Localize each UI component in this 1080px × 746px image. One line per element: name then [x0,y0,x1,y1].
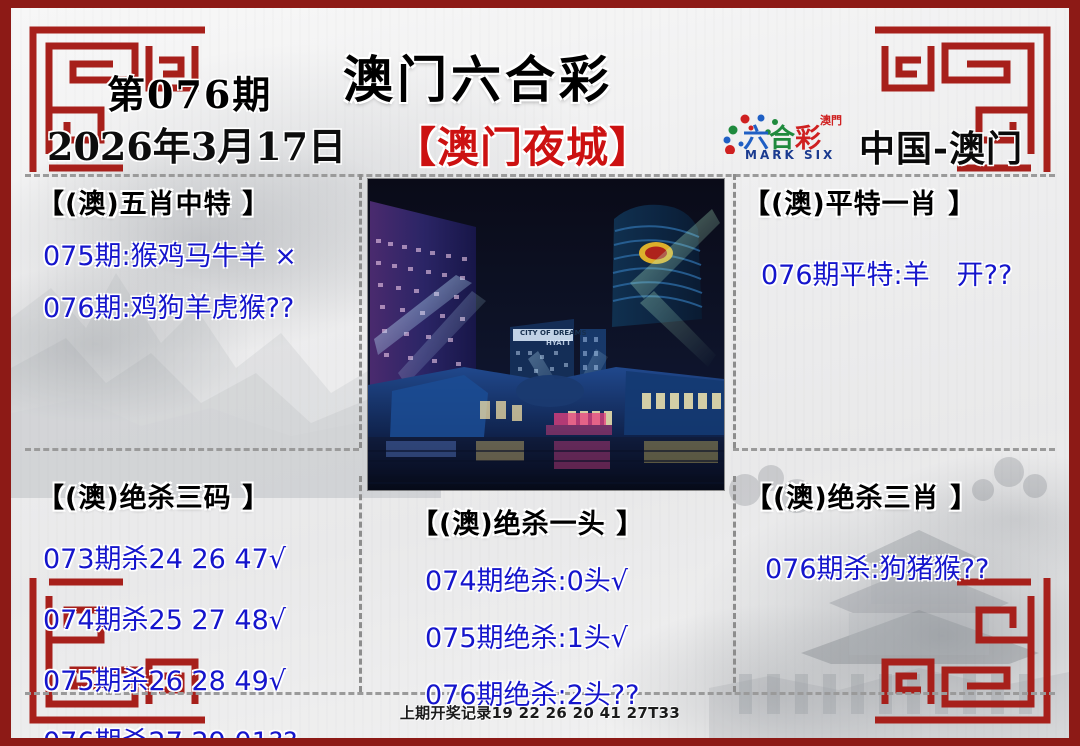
panel-line: 075期绝杀:1头√ [425,616,644,655]
panel-line: 076期杀:狗猪猴?? [765,547,989,586]
panel-line: 075期杀26 28 49√ [43,659,297,698]
poster-header: 第076期 2026年3月17日 澳门六合彩 【澳门夜城】 中国-澳门 六合彩 [11,8,1069,168]
panel-line: 076期平特:羊 开?? [761,253,1012,292]
panel-ping-te-one-zodiac: 【(澳)平特一肖 】 076期平特:羊 开?? [739,182,1012,292]
divider-horizontal-middle-left [25,448,359,451]
page-subtitle: 【澳门夜城】 [394,114,652,175]
panel-line: 073期杀24 26 47√ [43,537,297,576]
panel-title: 【(澳)绝杀三码 】 [37,476,297,515]
panel-title: 【(澳)平特一肖 】 [743,182,1012,221]
divider-vertical-right-upper [733,174,736,448]
region-label: 中国-澳门 [859,120,1023,172]
photo-sign-text: CITY OF DREAMS [520,329,587,337]
divider-horizontal-top [25,174,1055,177]
macau-night-photo: CITY OF DREAMS HYATT [368,179,724,490]
panel-kill-one-head: 【(澳)绝杀一头 】 074期绝杀:0头√ 075期绝杀:1头√ 076期绝杀:… [407,502,644,712]
divider-vertical-left-lower [359,476,362,692]
previous-draw-record: 上期开奖记录19 22 26 20 41 27T33 [11,702,1069,723]
macau-night-photo-graphic: CITY OF DREAMS HYATT [368,179,724,490]
panel-kill-three-codes: 【(澳)绝杀三码 】 073期杀24 26 47√ 074期杀25 27 48√… [31,476,297,738]
mark-six-logo: 六合彩 澳門 MARK SIX [725,112,855,170]
divider-vertical-right-lower [733,476,736,692]
panel-title: 【(澳)五肖中特 】 [37,182,297,221]
divider-vertical-left-upper [359,174,362,448]
panel-five-zodiac-special: 【(澳)五肖中特 】 075期:猴鸡马牛羊 × 076期:鸡狗羊虎猴?? [31,182,297,325]
divider-horizontal-middle-right [733,448,1055,451]
logo-superscript: 澳門 [820,112,842,128]
panel-line: 074期绝杀:0头√ [425,559,644,598]
panel-line: 075期:猴鸡马牛羊 × [43,234,297,273]
panel-kill-three-zodiac: 【(澳)绝杀三肖 】 076期杀:狗猪猴?? [739,476,989,586]
panel-line: 076期:鸡狗羊虎猴?? [43,286,297,325]
page-title: 澳门六合彩 [343,40,613,112]
issue-number: 第076期 [107,64,272,119]
photo-sign-sub: HYATT [546,339,571,347]
logo-english-text: MARK SIX [745,148,835,162]
issue-date: 2026年3月17日 [47,116,346,171]
lottery-poster: 第076期 2026年3月17日 澳门六合彩 【澳门夜城】 中国-澳门 六合彩 [0,0,1080,746]
panel-line: 074期杀25 27 48√ [43,598,297,637]
panel-title: 【(澳)绝杀三肖 】 [745,476,989,515]
panel-title: 【(澳)绝杀一头 】 [411,502,644,541]
poster-canvas: 第076期 2026年3月17日 澳门六合彩 【澳门夜城】 中国-澳门 六合彩 [11,8,1069,738]
